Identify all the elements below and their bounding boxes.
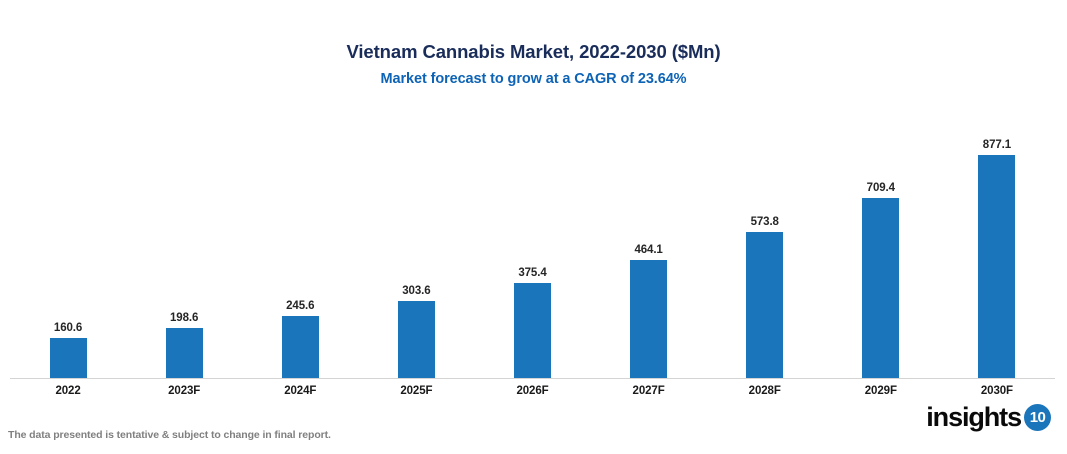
x-axis-tick-label: 2026F: [516, 385, 548, 397]
bar-series: 160.6198.6245.6303.6375.4464.1573.8709.4…: [10, 120, 1055, 379]
chart-title-block: Vietnam Cannabis Market, 2022-2030 ($Mn)…: [0, 40, 1067, 90]
logo-badge-icon: 10: [1024, 404, 1051, 431]
x-axis-tick: 2028F: [707, 381, 823, 399]
x-axis-tick: 2024F: [242, 381, 358, 399]
bar-value-label: 245.6: [286, 300, 314, 312]
bar-group: 877.1: [939, 120, 1055, 379]
bar: [50, 338, 87, 379]
x-axis-tick-label: 2023F: [168, 385, 200, 397]
x-axis-tick: 2026F: [474, 381, 590, 399]
bar-group: 464.1: [591, 120, 707, 379]
plot-area: 160.6198.6245.6303.6375.4464.1573.8709.4…: [0, 120, 1067, 379]
x-axis-tick: 2022: [10, 381, 126, 399]
chart-subtitle: Market forecast to grow at a CAGR of 23.…: [0, 65, 1067, 90]
bar: [746, 232, 783, 379]
x-axis-tick-labels: 20222023F2024F2025F2026F2027F2028F2029F2…: [10, 381, 1055, 399]
bar-group: 375.4: [474, 120, 590, 379]
bar: [630, 260, 667, 379]
bar-group: 160.6: [10, 120, 126, 379]
x-axis-tick-label: 2027F: [633, 385, 665, 397]
x-axis-line: [10, 378, 1055, 379]
logo-wordmark: insights: [926, 404, 1021, 431]
disclaimer-text: The data presented is tentative & subjec…: [8, 429, 331, 441]
x-axis-tick-label: 2025F: [400, 385, 432, 397]
x-axis-tick-label: 2029F: [865, 385, 897, 397]
bar-value-label: 709.4: [867, 182, 895, 194]
bar-value-label: 303.6: [402, 285, 430, 297]
bar-value-label: 877.1: [983, 139, 1011, 151]
bar-group: 245.6: [242, 120, 358, 379]
insights10-logo: insights 10: [926, 404, 1051, 431]
x-axis-tick: 2029F: [823, 381, 939, 399]
bar: [166, 328, 203, 379]
bar-value-label: 573.8: [751, 216, 779, 228]
bar-group: 573.8: [707, 120, 823, 379]
bar-value-label: 375.4: [518, 267, 546, 279]
bar-value-label: 464.1: [634, 244, 662, 256]
x-axis-tick: 2023F: [126, 381, 242, 399]
x-axis-tick-label: 2024F: [284, 385, 316, 397]
bar: [514, 283, 551, 379]
bar: [862, 198, 899, 379]
bar-value-label: 160.6: [54, 322, 82, 334]
chart-figure: Vietnam Cannabis Market, 2022-2030 ($Mn)…: [0, 0, 1067, 454]
bar-group: 303.6: [358, 120, 474, 379]
bar-group: 198.6: [126, 120, 242, 379]
x-axis-tick-label: 2030F: [981, 385, 1013, 397]
bar: [978, 155, 1015, 379]
bar-group: 709.4: [823, 120, 939, 379]
bar-value-label: 198.6: [170, 312, 198, 324]
x-axis-tick: 2027F: [591, 381, 707, 399]
x-axis-tick: 2030F: [939, 381, 1055, 399]
page-title: Vietnam Cannabis Market, 2022-2030 ($Mn): [0, 40, 1067, 65]
bar: [398, 301, 435, 379]
bar: [282, 316, 319, 379]
x-axis-tick-label: 2022: [55, 385, 80, 397]
x-axis-tick: 2025F: [358, 381, 474, 399]
x-axis-tick-label: 2028F: [749, 385, 781, 397]
